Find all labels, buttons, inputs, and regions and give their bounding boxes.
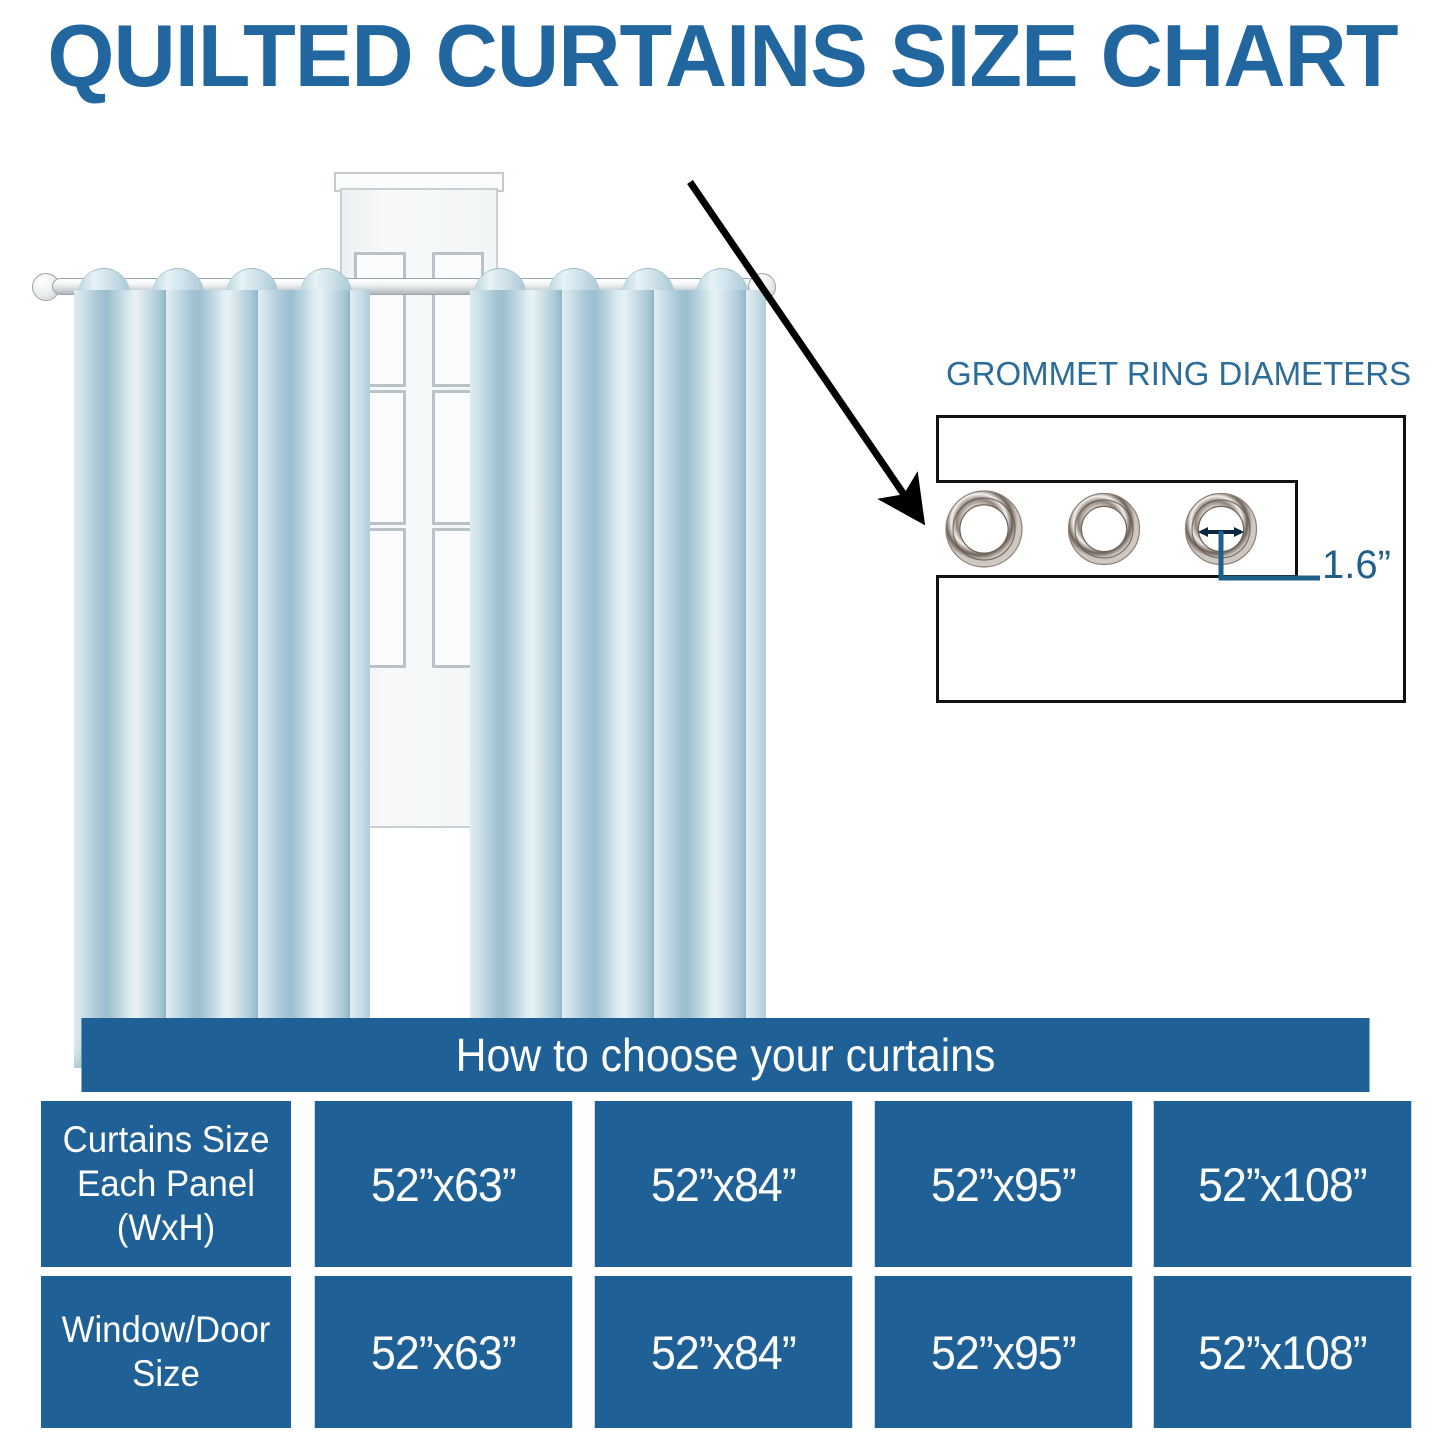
size-table: How to choose your curtains Curtains Siz… [33,1018,1418,1428]
grommet-detail-panel: GROMMET RING DIAMETERS [930,355,1430,715]
dimension-leader-line [930,355,1430,715]
table-cell-size: 52”x63” [315,1101,572,1267]
table-cell-size: 52”x108” [1154,1101,1411,1267]
table-cell-size: 52”x63” [315,1276,572,1428]
table-cell-size: 52”x84” [595,1101,852,1267]
table-cell-size: 52”x108” [1154,1276,1411,1428]
row-label-window-door-size: Window/Door Size [41,1276,291,1428]
right-curtain-panel [470,268,766,1068]
table-row: Window/Door Size 52”x63” 52”x84” 52”x95”… [33,1276,1418,1428]
row-label-line: (WxH) [117,1207,216,1248]
size-table-header: How to choose your curtains [81,1018,1369,1092]
row-label-curtain-size: Curtains Size Each Panel (WxH) [41,1101,291,1267]
left-curtain-panel [74,268,370,1068]
page-title: QUILTED CURTAINS SIZE CHART [14,8,1430,104]
left-curtain-fabric [74,290,370,1068]
row-label-line: Window/Door [62,1309,271,1350]
table-cell-size: 52”x95” [874,1101,1131,1267]
grommet-diameter-label: 1.6” [1322,543,1391,588]
row-label-line: Curtains Size [63,1119,270,1160]
row-label-line: Each Panel [77,1163,255,1204]
table-cell-size: 52”x95” [874,1276,1131,1428]
table-row: Curtains Size Each Panel (WxH) 52”x63” 5… [33,1101,1418,1267]
row-label-line: Size [132,1353,200,1394]
table-cell-size: 52”x84” [595,1276,852,1428]
right-curtain-fabric [470,290,766,1068]
